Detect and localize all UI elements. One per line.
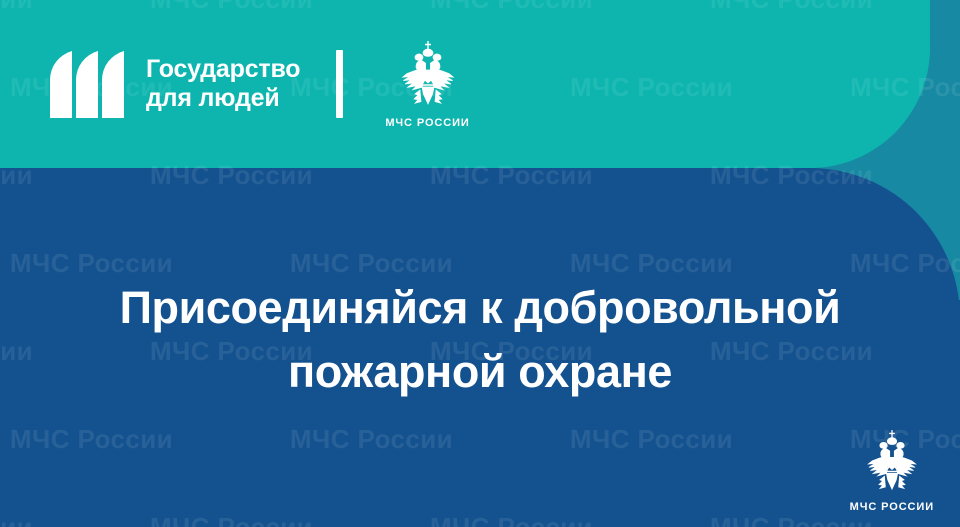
vertical-divider	[336, 50, 343, 118]
gov-logo-lockup: Государство для людей	[50, 50, 300, 118]
poster-canvas: МЧС РоссииМЧС РоссииМЧС РоссииМЧС России…	[0, 0, 960, 527]
footer-mchs-emblem: МЧС РОССИИ	[850, 429, 934, 513]
gov-logo-line2: для людей	[146, 84, 300, 113]
mchs-logo-caption: МЧС РОССИИ	[385, 117, 469, 129]
footer-emblem-caption: МЧС РОССИИ	[850, 501, 934, 513]
mchs-eagle-emblem-icon	[395, 40, 461, 112]
mchs-eagle-emblem-icon	[861, 429, 923, 497]
three-flags-logo-icon	[50, 50, 128, 118]
mchs-logo-lockup: МЧС РОССИИ	[385, 40, 469, 129]
page-title: Присоединяйся к добровольной пожарной ох…	[0, 276, 960, 404]
header-content: Государство для людей	[0, 0, 930, 168]
gov-logo-text: Государство для людей	[146, 55, 300, 113]
gov-logo-line1: Государство	[146, 55, 300, 84]
